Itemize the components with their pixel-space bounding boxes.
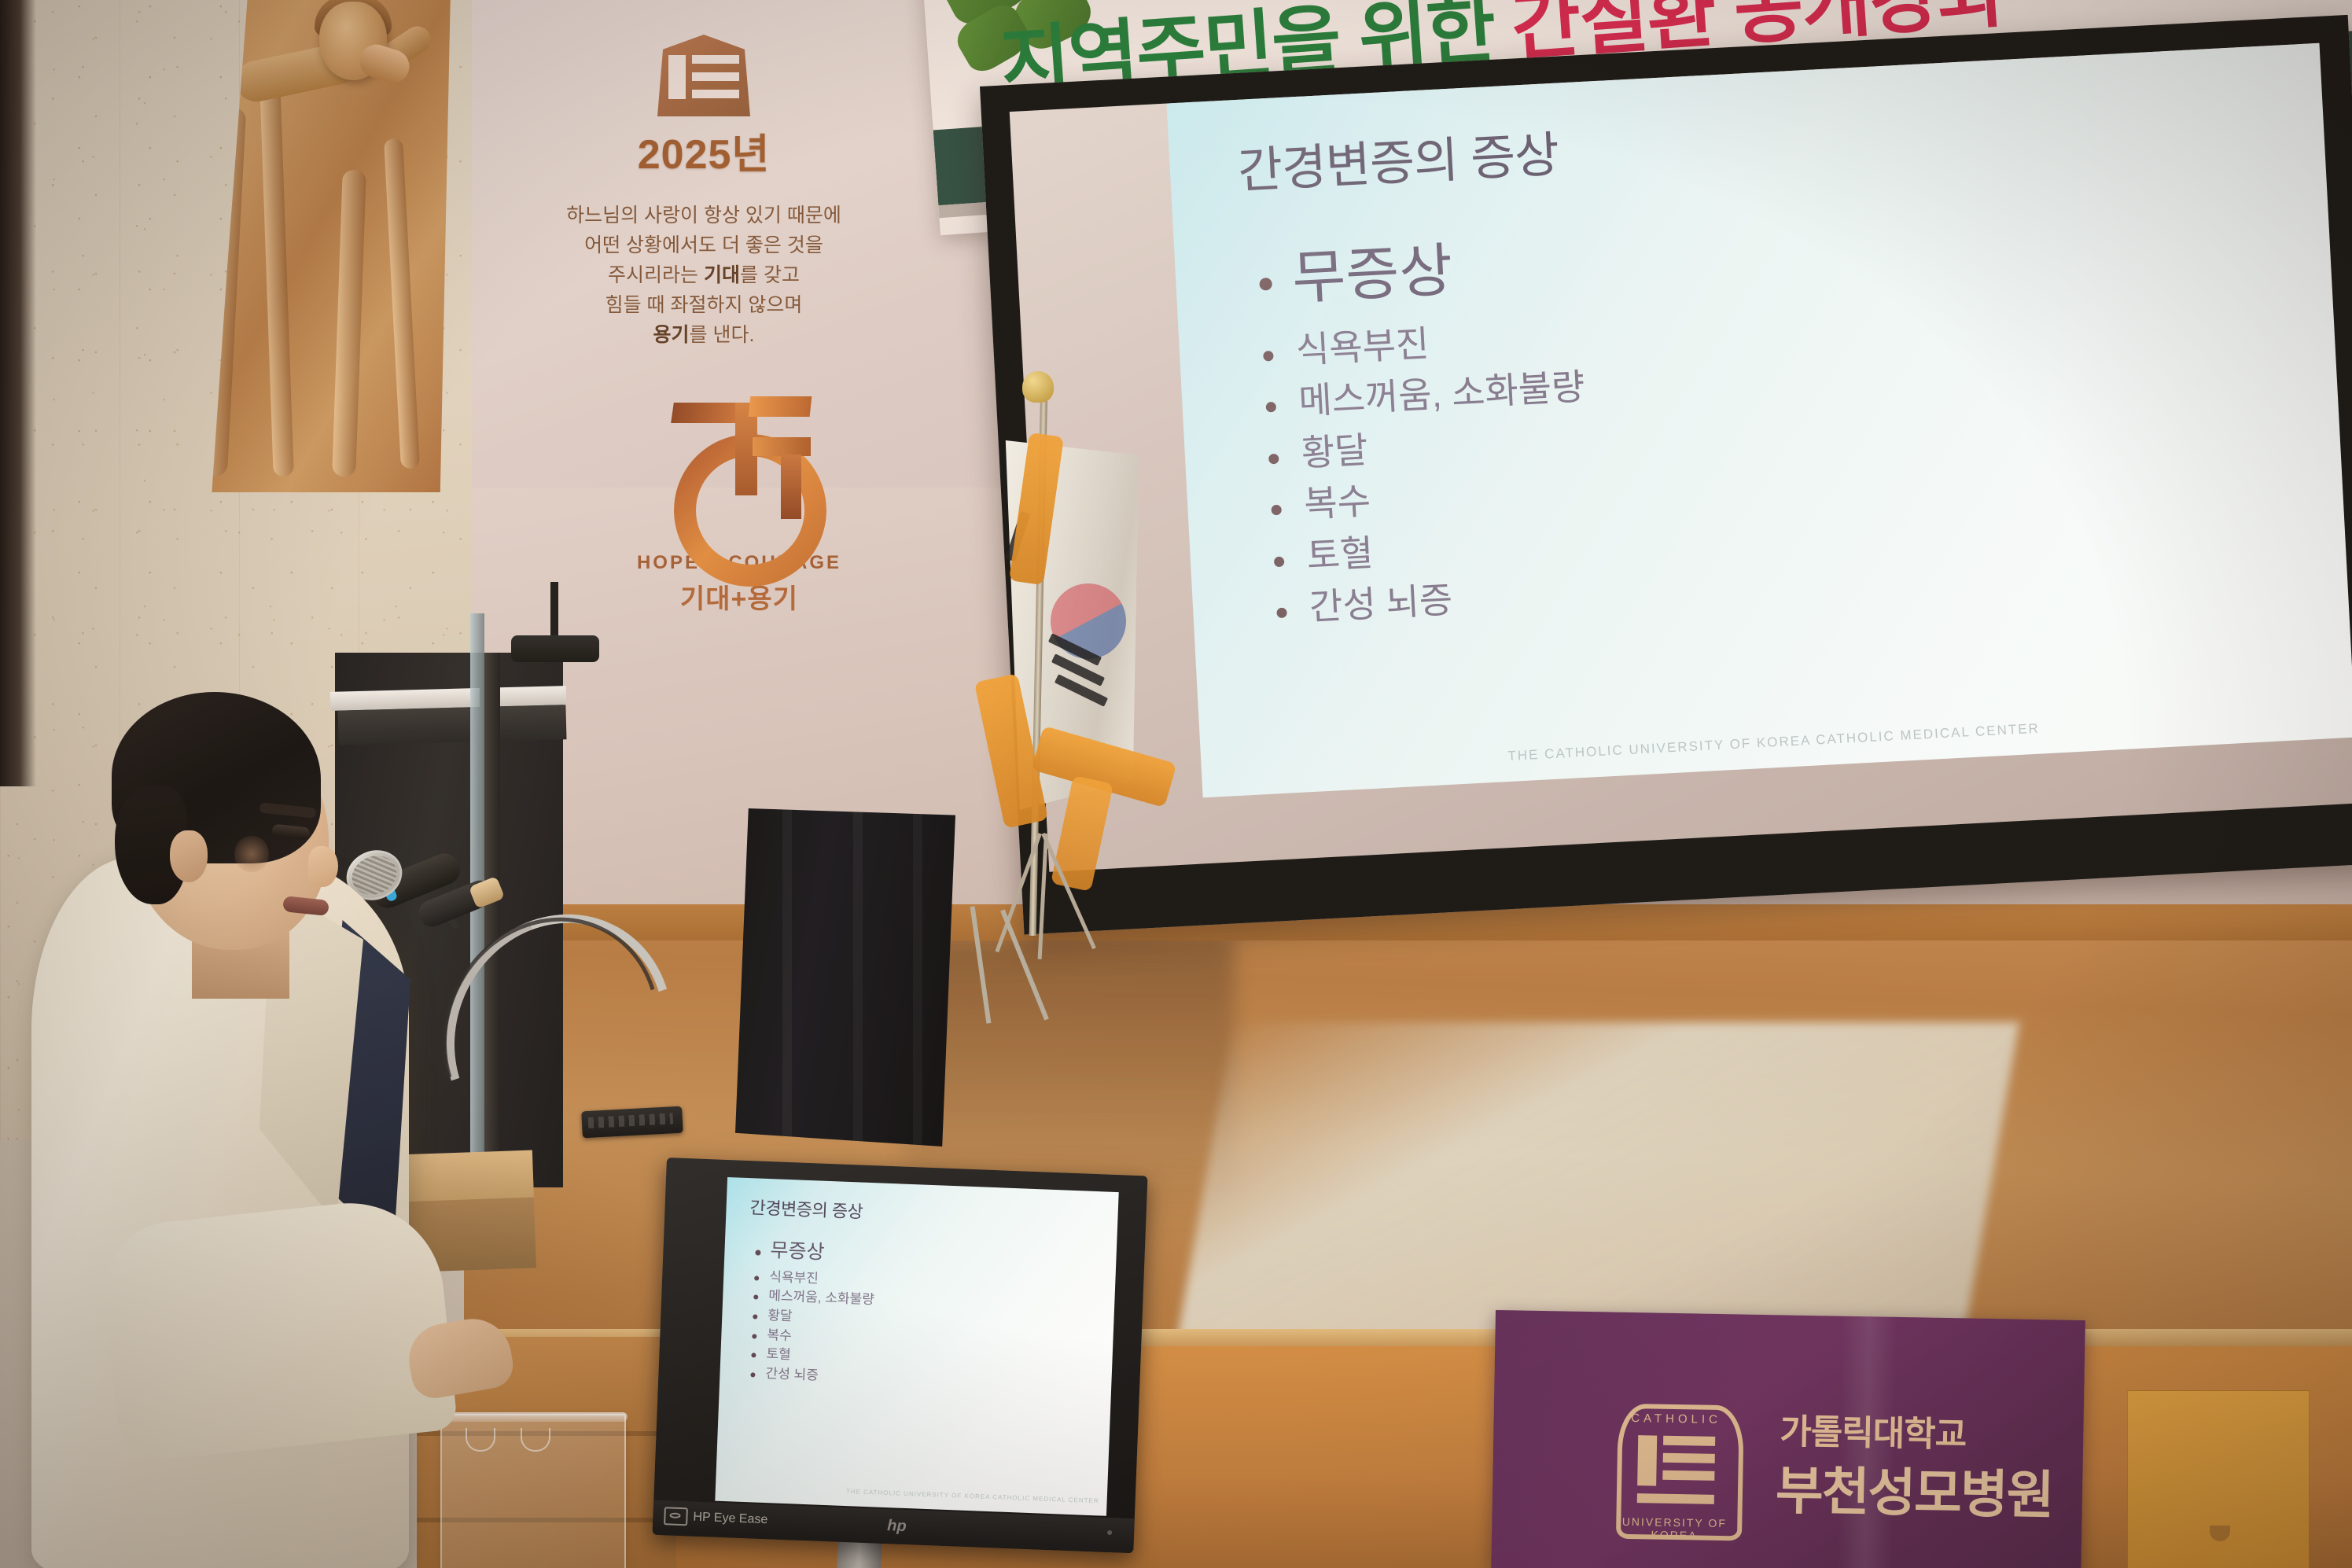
monitor-bullet: 황달 (749, 1308, 874, 1327)
mission-line-4: 힘들 때 좌절하지 않으며 (552, 290, 856, 320)
hope-courage-logo: HOPE + COURAGE 기대+용기 (605, 385, 873, 661)
monitor-bullet: 복수 (748, 1327, 873, 1347)
monitor-bullet: 메스꺼움, 소화불량 (749, 1288, 874, 1308)
hope-courage-mark-icon (657, 385, 822, 550)
confidence-monitor: 간경변증의 증상 무증상 식욕부진 메스꺼움, 소화불량 황달 복수 토혈 간성… (651, 1158, 1148, 1568)
eye-icon (664, 1507, 688, 1526)
monitor-slide-footer: THE CATHOLIC UNIVERSITY OF KOREA CATHOLI… (846, 1488, 1099, 1504)
hp-logo-icon: hp (887, 1517, 907, 1536)
speaker-nose (308, 846, 338, 887)
hospital-identity-banner: CATHOLIC UNIVERSITY OF KOREA 가톨릭대학교 부천성모… (1491, 1310, 2085, 1568)
mission-text: 하느님의 사랑이 항상 있기 때문에 어떤 상황에서도 더 좋은 것을 주시리라… (535, 201, 873, 350)
flag-finial (1022, 371, 1054, 403)
monitor-slide-title: 간경변증의 증상 (749, 1194, 863, 1223)
lectern-lamp-arm (550, 582, 558, 643)
slide-bullet: 토혈 (1265, 521, 1594, 579)
slide-bullet: 간성 뇌증 (1268, 572, 1596, 630)
monitor-bezel: 간경변증의 증상 무증상 식욕부진 메스꺼움, 소화불량 황달 복수 토혈 간성… (653, 1158, 1148, 1553)
slide-bullet-list: 무증상 식욕부진 메스꺼움, 소화불량 황달 복수 토혈 간성 뇌증 (1250, 232, 1597, 642)
mission-line-3: 주시리라는 기대를 갖고 (552, 260, 856, 290)
monitor-bullet: 무증상 (751, 1239, 877, 1266)
speaker-ear (170, 830, 208, 882)
speaker-sleeve (97, 1194, 458, 1463)
acrylic-sign-holder (440, 1414, 626, 1568)
lecture-hall-photo: 2025년 하느님의 사랑이 항상 있기 때문에 어떤 상황에서도 더 좋은 것… (0, 0, 2352, 1568)
slide-bullet: 메스꺼움, 소화불량 (1257, 367, 1585, 425)
mission-line-1: 하느님의 사랑이 항상 있기 때문에 (552, 201, 856, 230)
slide-surface: 간경변증의 증상 무증상 식욕부진 메스꺼움, 소화불량 황달 복수 토혈 간성… (1166, 43, 2352, 798)
catholic-university-emblem-icon (657, 35, 750, 116)
slide-bullet: 무증상 (1250, 232, 1580, 315)
speaker-cheek-mark (234, 835, 269, 873)
slide-bullet: 복수 (1262, 470, 1591, 528)
slide-bullet: 황달 (1260, 418, 1588, 476)
logo-arc-bottom-text: UNIVERSITY OF KOREA (1611, 1515, 1738, 1543)
mission-line-5: 용기를 낸다. (552, 320, 856, 350)
slide-footer: THE CATHOLIC UNIVERSITY OF KOREA CATHOLI… (1507, 721, 2040, 764)
monitor-screen: 간경변증의 증상 무증상 식욕부진 메스꺼움, 소화불량 황달 복수 토혈 간성… (715, 1177, 1118, 1516)
projection-screen: 간경변증의 증상 무증상 식욕부진 메스꺼움, 소화불량 황달 복수 토혈 간성… (980, 15, 2352, 935)
hospital-name: 부천성모병원 (1775, 1448, 2053, 1529)
mission-line-2: 어떤 상황에서도 더 좋은 것을 (552, 230, 856, 260)
lectern-lamp (511, 635, 599, 662)
monitor-bullet-list: 무증상 식욕부진 메스꺼움, 소화불량 황달 복수 토혈 간성 뇌증 (746, 1239, 877, 1390)
monitor-bullet: 식욕부진 (750, 1269, 875, 1289)
monitor-bullet: 간성 뇌증 (746, 1366, 871, 1386)
slide-title: 간경변증의 증상 (1235, 115, 1560, 202)
monitor-cable (846, 1551, 1009, 1568)
eye-ease-label: HP Eye Ease (693, 1510, 767, 1527)
stage-access-panel (2127, 1390, 2310, 1568)
floor-light-reflection (1173, 1022, 2019, 1360)
speaker-presenter (24, 661, 464, 1568)
mission-year: 2025년 (535, 121, 873, 180)
mission-statement-sign: 2025년 하느님의 사랑이 항상 있기 때문에 어떤 상황에서도 더 좋은 것… (535, 14, 873, 392)
logo-arc-top-text: CATHOLIC (1630, 1412, 1721, 1426)
slide-bullet: 식욕부진 (1254, 315, 1583, 373)
monitor-bullet: 토혈 (747, 1346, 872, 1366)
draped-table (735, 808, 955, 1147)
